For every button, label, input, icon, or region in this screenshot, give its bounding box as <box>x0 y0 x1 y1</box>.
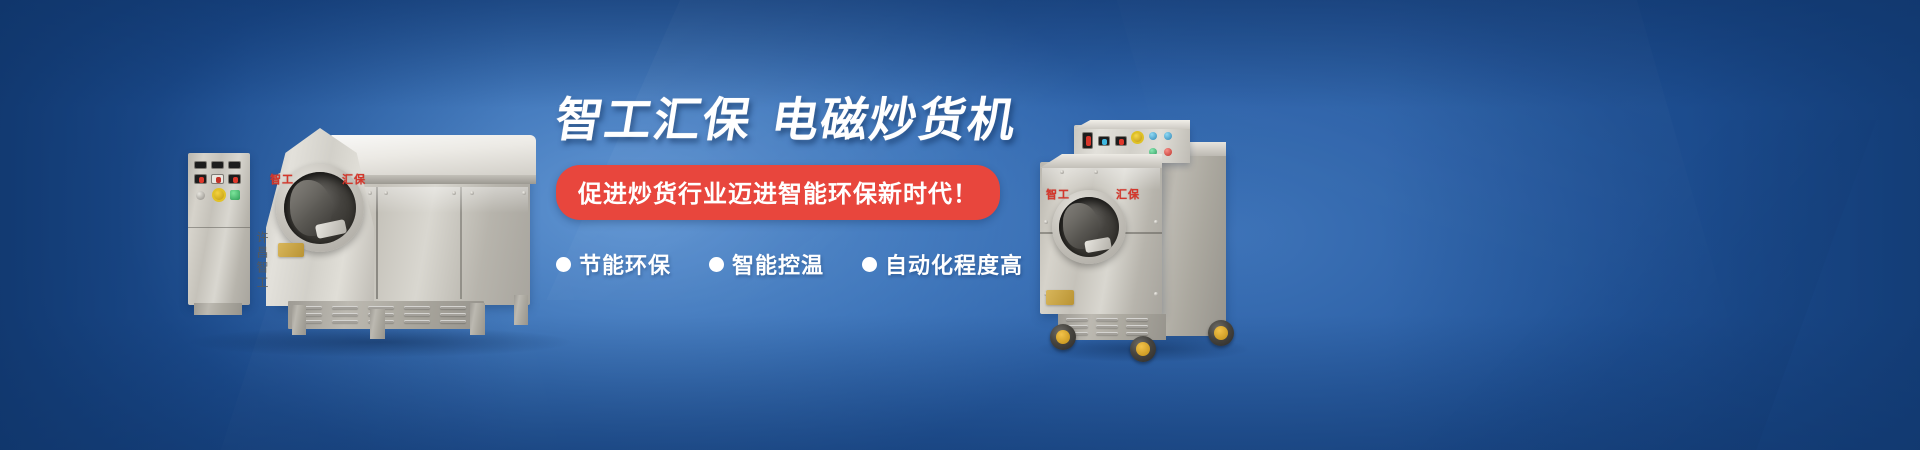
page-title: 智工汇保电磁炒货机 <box>552 96 1029 143</box>
left-machine-bolt-6 <box>522 191 526 195</box>
right-machine-vent-5 <box>1096 325 1118 328</box>
right-machine-bolt-4 <box>1154 220 1158 224</box>
left-machine-display-1 <box>194 161 207 169</box>
right-machine-led-2 <box>1119 139 1124 145</box>
bullet-dot-icon <box>862 257 877 272</box>
right-machine-vent-7 <box>1126 318 1148 321</box>
left-machine-brand-left: 智工 <box>270 171 294 187</box>
banner-copy: 智工汇保电磁炒货机 促进炒货行业迈进智能环保新时代！ 节能环保 智能控温 自动化… <box>556 96 1026 280</box>
left-machine-vent-5 <box>332 313 358 316</box>
feature-item-1: 节能环保 <box>556 248 671 280</box>
right-machine-label-plate <box>1046 290 1074 305</box>
right-machine-display-led <box>1086 136 1091 146</box>
headline-brand: 智工汇保 <box>552 93 756 146</box>
right-machine-display <box>1082 132 1093 149</box>
promo-banner: 智工 汇保 许昌智工 <box>0 0 1920 450</box>
right-machine-button-blue-2[interactable] <box>1164 132 1172 140</box>
left-machine-leg-4 <box>514 295 528 325</box>
right-machine-emergency-stop-button[interactable] <box>1131 131 1144 144</box>
right-machine-bolt-1 <box>1060 170 1064 174</box>
left-machine-display-2 <box>211 161 224 169</box>
right-machine-drum-opening <box>1059 197 1119 257</box>
badge-row: 促进炒货行业迈进智能环保新时代！ <box>556 165 1026 220</box>
left-machine-readout-3 <box>228 174 241 184</box>
feature-label-1: 节能环保 <box>579 248 671 280</box>
left-machine-display-3 <box>228 161 241 169</box>
left-machine-cabinet-text: 许昌智工 <box>254 231 271 303</box>
left-machine-vent-6 <box>332 320 358 323</box>
right-machine-vent-9 <box>1126 332 1148 335</box>
right-machine-front-body-top <box>1040 154 1162 168</box>
right-machine-caster-3 <box>1208 320 1234 346</box>
right-machine-control-head-top <box>1074 120 1190 129</box>
left-machine-readout-1 <box>194 174 207 184</box>
right-machine-vent-4 <box>1096 318 1118 321</box>
left-machine-vent-4 <box>332 306 358 309</box>
left-machine-vent-10 <box>404 306 430 309</box>
right-machine-bolt-6 <box>1154 292 1158 296</box>
feature-item-3: 自动化程度高 <box>862 248 1023 280</box>
right-machine-readout-2 <box>1115 136 1127 146</box>
bullet-dot-icon <box>709 257 724 272</box>
status-badge: 促进炒货行业迈进智能环保新时代！ <box>556 165 1000 220</box>
left-machine-vent-14 <box>440 313 466 316</box>
right-machine-bolt-3 <box>1044 220 1048 224</box>
left-machine-cabinet-foot <box>194 303 242 315</box>
left-machine-vent-12 <box>404 320 430 323</box>
right-machine-button-blue-1[interactable] <box>1149 132 1157 140</box>
right-machine-led-1 <box>1102 139 1107 145</box>
feature-label-3: 自动化程度高 <box>885 248 1023 280</box>
left-machine-brand-right: 汇保 <box>342 171 366 187</box>
left-machine-vent-11 <box>404 313 430 316</box>
right-machine-caster-2 <box>1130 336 1156 362</box>
left-machine-led-red-3 <box>233 177 238 183</box>
right-machine-caster-1 <box>1050 324 1076 350</box>
left-machine-emergency-stop-button[interactable] <box>212 188 226 202</box>
left-machine-readout-2 <box>211 174 224 184</box>
left-machine-led-red-2 <box>216 177 221 183</box>
product-image-right-machine: 智工 汇保 <box>1030 92 1250 357</box>
right-machine-brand-left: 智工 <box>1046 186 1070 202</box>
left-machine-bolt-2 <box>368 191 372 195</box>
headline-product: 电磁炒货机 <box>768 93 1021 146</box>
right-machine-vent-8 <box>1126 325 1148 328</box>
left-machine-bolt-5 <box>470 191 474 195</box>
right-machine-vent-1 <box>1066 318 1088 321</box>
left-machine-start-button[interactable] <box>230 190 240 200</box>
right-machine-button-red[interactable] <box>1164 148 1172 156</box>
right-machine-brand-right: 汇保 <box>1116 186 1140 202</box>
left-machine-bolt-3 <box>384 191 388 195</box>
product-image-left-machine: 智工 汇保 许昌智工 <box>170 95 590 350</box>
left-machine-switch-icon[interactable] <box>196 191 205 200</box>
feature-list: 节能环保 智能控温 自动化程度高 <box>556 248 1026 280</box>
left-machine-leg-1 <box>292 305 306 335</box>
bullet-dot-icon <box>556 257 571 272</box>
left-machine-label-plate <box>278 243 304 257</box>
right-machine-readout-1 <box>1098 136 1110 146</box>
right-machine-vent-6 <box>1096 332 1118 335</box>
left-machine-bolt-4 <box>452 191 456 195</box>
left-machine-led-red-1 <box>199 177 204 183</box>
feature-item-2: 智能控温 <box>709 248 824 280</box>
left-machine-leg-2 <box>370 309 385 339</box>
left-machine-control-cabinet-seam <box>188 227 250 228</box>
left-machine-vent-15 <box>440 320 466 323</box>
left-machine-leg-3 <box>470 303 485 335</box>
right-machine-bolt-2 <box>1094 170 1098 174</box>
left-machine-vent-13 <box>440 306 466 309</box>
feature-label-2: 智能控温 <box>732 248 824 280</box>
